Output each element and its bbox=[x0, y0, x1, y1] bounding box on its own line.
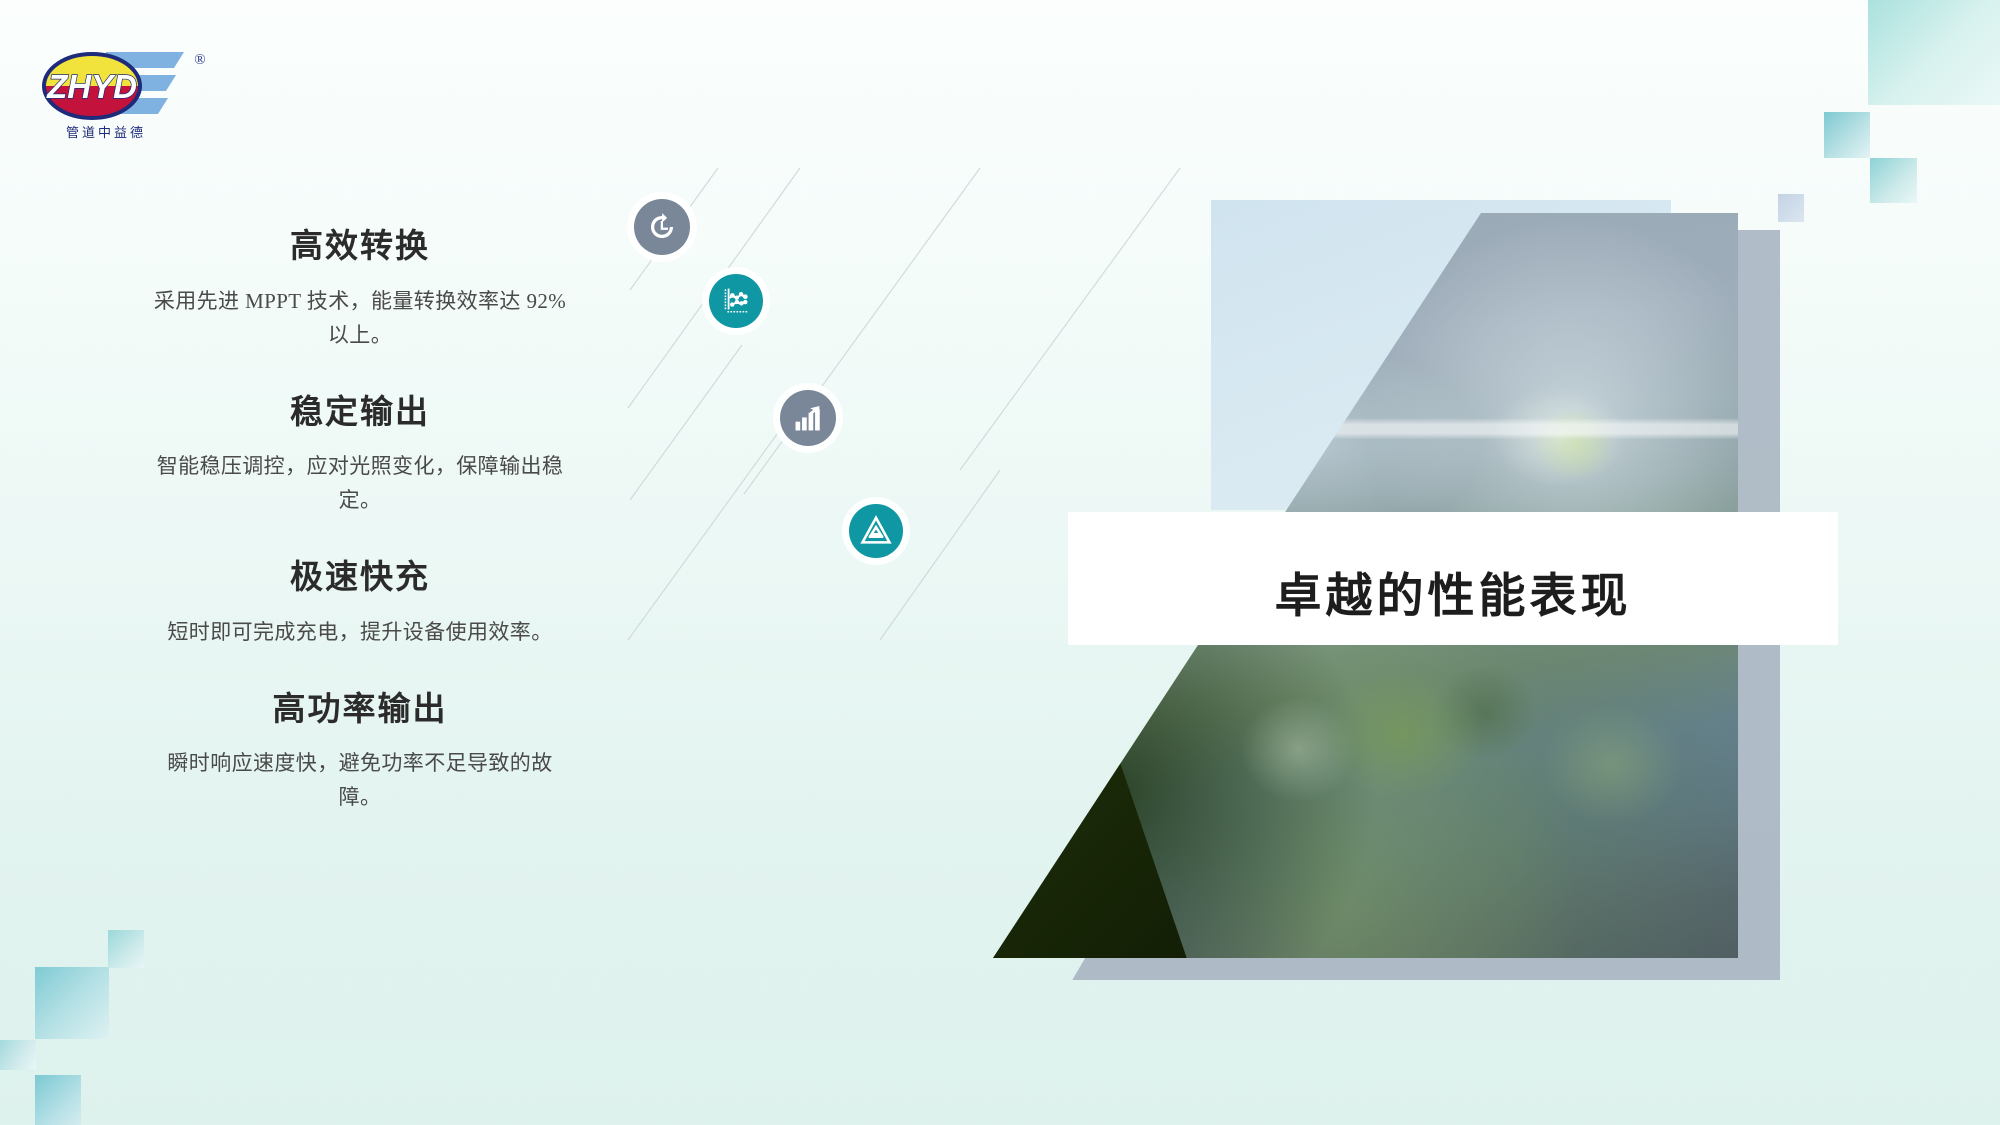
deco-square bbox=[1868, 0, 2000, 105]
deco-square bbox=[0, 1040, 36, 1070]
company-logo: ZHYD ® 管道中益德 bbox=[34, 38, 214, 143]
feature-list: 高效转换 采用先进 MPPT 技术，能量转换效率达 92% 以上。 稳定输出 智… bbox=[150, 228, 570, 856]
deco-square bbox=[108, 930, 144, 968]
feature-description: 短时即可完成充电，提升设备使用效率。 bbox=[150, 615, 570, 649]
deco-square bbox=[1824, 112, 1870, 158]
list-item: 高效转换 采用先进 MPPT 技术，能量转换效率达 92% 以上。 bbox=[150, 228, 570, 352]
bar-chart-growth-icon bbox=[780, 390, 836, 446]
list-item: 极速快充 短时即可完成充电，提升设备使用效率。 bbox=[150, 559, 570, 649]
trademark-symbol: ® bbox=[194, 52, 205, 68]
feature-title: 极速快充 bbox=[150, 559, 570, 599]
deco-square bbox=[35, 1075, 81, 1125]
feature-description: 瞬时响应速度快，避免功率不足导致的故障。 bbox=[150, 746, 570, 814]
deco-square bbox=[35, 967, 109, 1039]
page-title: 卓越的性能表现 bbox=[1275, 531, 1632, 626]
clock-history-icon bbox=[634, 199, 690, 255]
logo-subtext: 管道中益德 bbox=[66, 125, 146, 140]
list-item: 稳定输出 智能稳压调控，应对光照变化，保障输出稳定。 bbox=[150, 394, 570, 518]
feature-title: 稳定输出 bbox=[150, 394, 570, 434]
list-item: 高功率输出 瞬时响应速度快，避免功率不足导致的故障。 bbox=[150, 691, 570, 815]
feature-title: 高效转换 bbox=[150, 228, 570, 268]
feature-title: 高功率输出 bbox=[150, 691, 570, 731]
decorative-squares-bottom-left bbox=[0, 895, 230, 1125]
feature-description: 智能稳压调控，应对光照变化，保障输出稳定。 bbox=[150, 449, 570, 517]
title-banner: 卓越的性能表现 bbox=[1068, 512, 1838, 645]
feature-description: 采用先进 MPPT 技术，能量转换效率达 92% 以上。 bbox=[150, 284, 570, 352]
line-chart-icon bbox=[709, 274, 763, 328]
logo-wordmark: ZHYD bbox=[46, 68, 137, 105]
